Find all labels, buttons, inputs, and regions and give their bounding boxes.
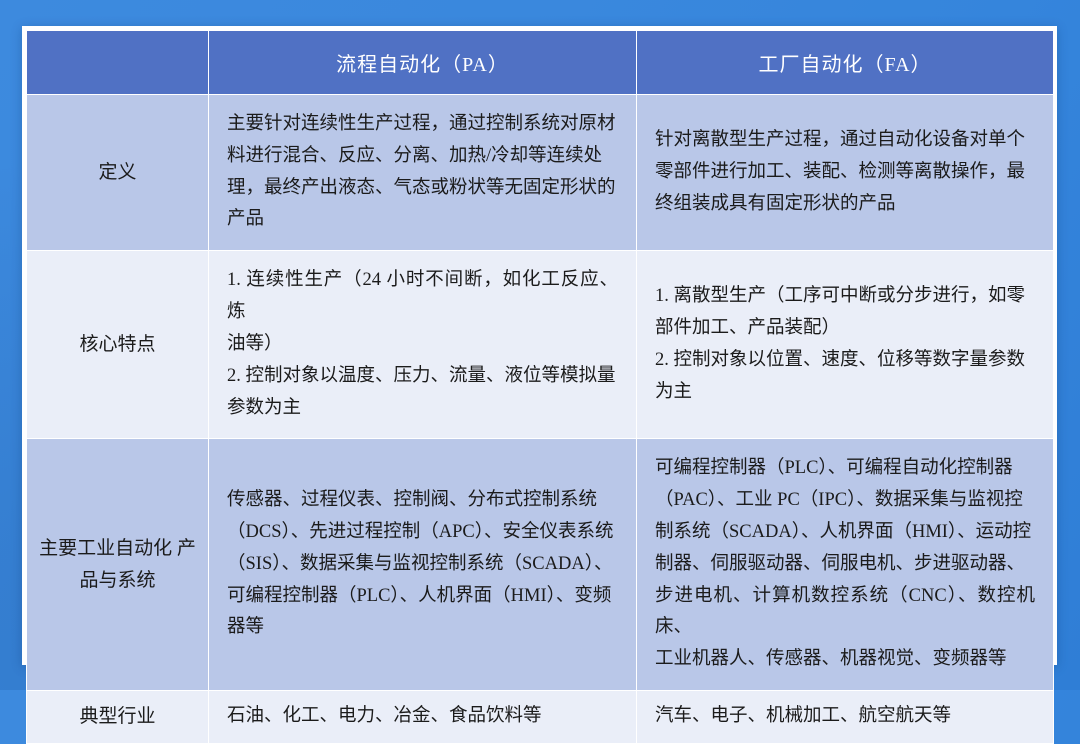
text-line: 参数为主: [227, 393, 618, 425]
text-line: 2. 控制对象以温度、压力、流量、液位等模拟量: [227, 361, 618, 393]
header-cell-pa: 流程自动化（PA）: [209, 31, 637, 95]
text-line: 制器、伺服驱动器、伺服电机、步进驱动器、: [655, 549, 1035, 581]
header-cell-fa: 工厂自动化（FA）: [637, 31, 1054, 95]
text-line: 1. 连续性生产（24 小时不间断，如化工反应、炼: [227, 265, 618, 329]
table-row-core-features: 核心特点 1. 连续性生产（24 小时不间断，如化工反应、炼 油等） 2. 控制…: [27, 251, 1054, 439]
text-line: 主要工业自动化: [39, 538, 172, 559]
text-line: 部件加工、产品装配）: [655, 313, 1035, 345]
text-line: 1. 离散型生产（工序可中断或分步进行，如零: [655, 281, 1035, 313]
table-row-products-systems: 主要工业自动化 产品与系统 传感器、过程仪表、控制阀、分布式控制系统 （DCS）…: [27, 439, 1054, 691]
cell-pa-definition: 主要针对连续性生产过程，通过控制系统对原材 料进行混合、反应、分离、加热/冷却等…: [209, 95, 637, 251]
cell-fa-typical-industries: 汽车、电子、机械加工、航空航天等: [637, 691, 1054, 744]
header-cell-blank: [27, 31, 209, 95]
text-line: 2. 控制对象以位置、速度、位移等数字量参数: [655, 345, 1035, 377]
text-line: 步进电机、计算机数控系统（CNC）、数控机床、: [655, 581, 1035, 645]
text-line: 零部件进行加工、装配、检测等离散操作，最: [655, 157, 1035, 189]
text-line: （DCS）、先进过程控制（APC）、安全仪表系统: [227, 517, 618, 549]
cell-fa-core-features: 1. 离散型生产（工序可中断或分步进行，如零 部件加工、产品装配） 2. 控制对…: [637, 251, 1054, 439]
text-line: 主要针对连续性生产过程，通过控制系统对原材: [227, 109, 618, 141]
text-line: 制系统（SCADA）、人机界面（HMI）、运动控: [655, 517, 1035, 549]
screenshot-canvas: 流程自动化（PA） 工厂自动化（FA） 定义 主要针对连续性生产过程，通过控制系…: [0, 0, 1080, 690]
cell-fa-definition: 针对离散型生产过程，通过自动化设备对单个 零部件进行加工、装配、检测等离散操作，…: [637, 95, 1054, 251]
text-line: 工业机器人、传感器、机器视觉、变频器等: [655, 644, 1035, 676]
cell-pa-typical-industries: 石油、化工、电力、冶金、食品饮料等: [209, 691, 637, 744]
text-line: 汽车、电子、机械加工、航空航天等: [655, 701, 1035, 733]
text-line: 可编程控制器（PLC）、人机界面（HMI）、变频: [227, 581, 618, 613]
pa-fa-comparison-table: 流程自动化（PA） 工厂自动化（FA） 定义 主要针对连续性生产过程，通过控制系…: [26, 30, 1054, 744]
text-line: 产品: [227, 204, 618, 236]
text-line: 器等: [227, 612, 618, 644]
text-line: 传感器、过程仪表、控制阀、分布式控制系统: [227, 485, 618, 517]
text-line: 针对离散型生产过程，通过自动化设备对单个: [655, 125, 1035, 157]
text-line: 理，最终产出液态、气态或粉状等无固定形状的: [227, 173, 618, 205]
row-label-core-features: 核心特点: [27, 251, 209, 439]
table-row-typical-industries: 典型行业 石油、化工、电力、冶金、食品饮料等 汽车、电子、机械加工、航空航天等: [27, 691, 1054, 744]
table-row-definition: 定义 主要针对连续性生产过程，通过控制系统对原材 料进行混合、反应、分离、加热/…: [27, 95, 1054, 251]
row-label-definition: 定义: [27, 95, 209, 251]
text-line: 为主: [655, 377, 1035, 409]
text-line: 终组装成具有固定形状的产品: [655, 189, 1035, 221]
comparison-table-frame: 流程自动化（PA） 工厂自动化（FA） 定义 主要针对连续性生产过程，通过控制系…: [22, 26, 1057, 665]
table-header: 流程自动化（PA） 工厂自动化（FA）: [27, 31, 1054, 95]
header-row: 流程自动化（PA） 工厂自动化（FA）: [27, 31, 1054, 95]
text-line: 石油、化工、电力、冶金、食品饮料等: [227, 701, 618, 733]
text-line: 料进行混合、反应、分离、加热/冷却等连续处: [227, 141, 618, 173]
text-line: （SIS）、数据采集与监视控制系统（SCADA）、: [227, 549, 618, 581]
cell-pa-core-features: 1. 连续性生产（24 小时不间断，如化工反应、炼 油等） 2. 控制对象以温度…: [209, 251, 637, 439]
cell-pa-products-systems: 传感器、过程仪表、控制阀、分布式控制系统 （DCS）、先进过程控制（APC）、安…: [209, 439, 637, 691]
table-body: 定义 主要针对连续性生产过程，通过控制系统对原材 料进行混合、反应、分离、加热/…: [27, 95, 1054, 744]
text-line: 油等）: [227, 329, 618, 361]
text-line: 可编程控制器（PLC）、可编程自动化控制器: [655, 453, 1035, 485]
row-label-typical-industries: 典型行业: [27, 691, 209, 744]
text-line: （PAC）、工业 PC（IPC）、数据采集与监视控: [655, 485, 1035, 517]
cell-fa-products-systems: 可编程控制器（PLC）、可编程自动化控制器 （PAC）、工业 PC（IPC）、数…: [637, 439, 1054, 691]
row-label-products-systems: 主要工业自动化 产品与系统: [27, 439, 209, 691]
